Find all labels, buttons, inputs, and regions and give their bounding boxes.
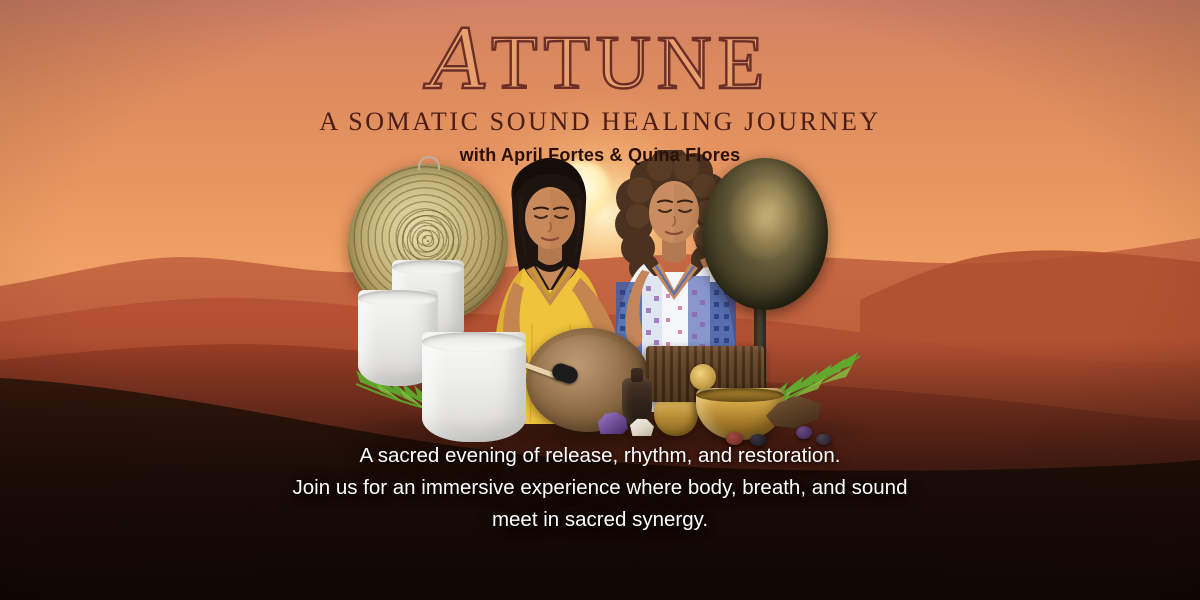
dark-vase-icon [622, 378, 652, 426]
event-poster: ATTUNE A SOMATIC SOUND HEALING JOURNEY w… [0, 0, 1200, 600]
tagline-line-2: Join us for an immersive experience wher… [0, 472, 1200, 504]
subtitle: A SOMATIC SOUND HEALING JOURNEY [0, 107, 1200, 137]
stone-purple-icon [796, 426, 812, 439]
title-block: ATTUNE A SOMATIC SOUND HEALING JOURNEY w… [0, 0, 1200, 166]
title-initial: A [430, 13, 491, 108]
tagline-block: A sacred evening of release, rhythm, and… [0, 440, 1200, 536]
photo-collage [330, 150, 890, 440]
presenters-line: with April Fortes & Quina Flores [0, 145, 1200, 166]
page-title: ATTUNE [0, 22, 1200, 101]
title-rest: TTUNE [491, 21, 770, 105]
brass-medallion-icon [690, 364, 716, 390]
tagline-line-3: meet in sacred synergy. [0, 504, 1200, 536]
shamanic-gong-icon [702, 158, 828, 310]
crystal-singing-bowl-large [422, 332, 526, 442]
tagline-line-1: A sacred evening of release, rhythm, and… [0, 440, 1200, 472]
